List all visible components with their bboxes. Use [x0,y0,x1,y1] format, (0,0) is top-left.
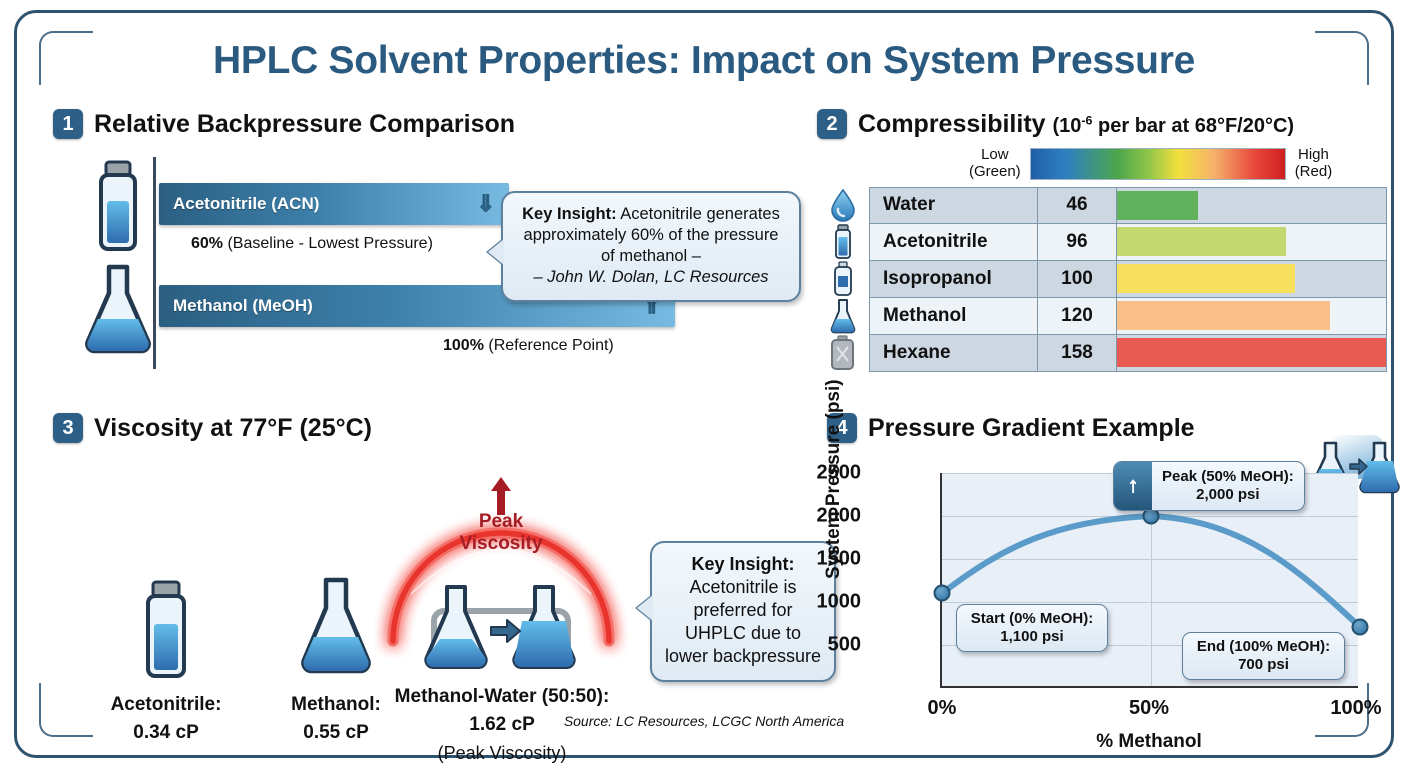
scale-low-subtext: (Green) [969,164,1021,181]
peak-viscosity-label: Peak Viscosity [371,511,631,554]
peak-tooltip-text: Peak (50% MeOH): 2,000 psi [1152,462,1304,510]
panel-viscosity: 3 Viscosity at 77°F (25°C) [53,413,833,743]
bar-acetonitrile: Acetonitrile (ACN) ⇓ [159,183,509,225]
end-tooltip: End (100% MeOH): 700 psi [1182,632,1345,680]
panel1-callout-attribution: – John W. Dolan, LC Resources [533,268,768,286]
panel3-key-insight-callout: Key Insight: Acetonitrile is preferred f… [650,541,836,682]
scale-high-text: High [1295,147,1333,164]
start-tooltip-label: Start (0% MeOH): [966,610,1098,628]
scale-high-label: High (Red) [1295,147,1333,181]
bar-label-acetonitrile: Acetonitrile (ACN) [173,194,319,214]
y-tick-label: 2500 [817,462,862,485]
panel1-title: Relative Backpressure Comparison [94,110,515,139]
panel2-unit-pre: (10 [1053,115,1082,137]
cell-value: 120 [1038,298,1117,334]
cell-bar [1117,335,1386,371]
table-row: Acetonitrile 96 [817,224,1387,261]
table-row-grid: Methanol 120 [869,298,1387,335]
value-bar [1117,338,1386,367]
panel1-callout-lead: Key Insight: [522,205,616,223]
panel1-badge: 1 [53,109,83,139]
scale-low-label: Low (Green) [969,147,1021,181]
start-tooltip-value: 1,100 psi [966,628,1098,646]
cell-value: 46 [1038,188,1117,223]
cell-name: Isopropanol [870,261,1038,297]
bar-caption-value-methanol: 100% [443,337,484,354]
table-row-grid: Acetonitrile 96 [869,224,1387,261]
water-drop-icon [817,187,869,224]
scale-high-subtext: (Red) [1295,164,1333,181]
panel3-header: 3 Viscosity at 77°F (25°C) [53,413,833,443]
value-bar [1117,227,1286,256]
callout-tail-icon [637,595,653,621]
cell-name: Acetonitrile [870,224,1038,260]
pressure-gradient-chart: System Pressure (psi) 2500 2000 1500 100… [827,449,1397,739]
table-row: Water 46 [817,187,1387,224]
chart-x-axis-label: % Methanol [940,731,1358,753]
two-flasks-icon [417,583,587,675]
table-row-grid: Water 46 [869,187,1387,224]
viscosity-name-methanol-water: Methanol-Water (50:50): [391,686,613,708]
bar-caption-text-methanol: (Reference Point) [484,337,614,354]
y-tick-label: 1500 [817,548,862,571]
cell-name: Water [870,188,1038,223]
bar-caption-text-acetonitrile: (Baseline - Lowest Pressure) [223,235,433,252]
y-tick-label: 500 [828,634,861,657]
panel2-header: 2 Compressibility (10-6 per bar at 68°F/… [817,109,1387,139]
panel2-title-main: Compressibility [858,110,1046,138]
table-row: Isopropanol 100 [817,261,1387,298]
peak-tooltip-value: 2,000 psi [1162,486,1294,504]
table-row: Methanol 120 [817,298,1387,335]
cell-bar [1117,261,1386,297]
scale-low-text: Low [969,147,1021,164]
bottle-icon [817,261,869,298]
y-tick-label: 2000 [817,505,862,528]
panel-backpressure: 1 Relative Backpressure Comparison [53,109,813,399]
panel1-key-insight-callout: Key Insight: Acetonitrile generates appr… [501,191,801,302]
flask-icon [297,575,375,683]
peak-tooltip: ↑ Peak (50% MeOH): 2,000 psi [1113,461,1305,511]
callout-tail-icon [488,239,504,265]
panel-compressibility: 2 Compressibility (10-6 per bar at 68°F/… [817,109,1387,409]
panel1-header: 1 Relative Backpressure Comparison [53,109,813,139]
page-title: HPLC Solvent Properties: Impact on Syste… [17,39,1391,83]
bar-caption-methanol: 100% (Reference Point) [443,337,614,355]
panel3-title: Viscosity at 77°F (25°C) [94,414,372,443]
data-point-end [1352,619,1369,636]
table-row-grid: Hexane 158 [869,335,1387,372]
flask-icon [81,261,155,362]
flask-icon [817,298,869,335]
data-point-start [934,585,951,602]
panel1-body: Acetonitrile (ACN) ⇓ 60% (Baseline - Low… [53,153,813,403]
panel2-unit-post: per bar at 68°F/20°C) [1092,115,1294,137]
panel3-callout-body: Acetonitrile is preferred for UHPLC due … [662,576,824,668]
panel3-badge: 3 [53,413,83,443]
vial-icon [135,579,197,683]
vial-icon [89,159,147,260]
panel-pressure-gradient: 4 Pressure Gradient Example System Press… [827,413,1397,743]
start-tooltip: Start (0% MeOH): 1,100 psi [956,604,1108,652]
cell-value: 96 [1038,224,1117,260]
panel2-title-unit: (10-6 per bar at 68°F/20°C) [1053,115,1295,137]
y-tick-label: 1000 [817,591,862,614]
infographic-frame: HPLC Solvent Properties: Impact on Syste… [14,10,1394,758]
peak-label-line1: Peak [371,511,631,533]
bar-label-methanol: Methanol (MeOH) [173,296,313,316]
panel2-title: Compressibility (10-6 per bar at 68°F/20… [858,110,1294,139]
compressibility-table: Water 46 Acetonitrile 96 [817,187,1387,372]
panel2-badge: 2 [817,109,847,139]
panel3-callout-lead: Key Insight: [691,554,794,574]
jerrycan-icon [817,335,869,372]
cell-value: 158 [1038,335,1117,371]
peak-label-line2: Viscosity [371,533,631,555]
cell-bar [1117,224,1386,260]
chart-plot-area: ↑ Peak (50% MeOH): 2,000 psi Start (0% M… [940,473,1358,688]
cell-bar [1117,188,1386,223]
viscosity-note-methanol-water: (Peak Viscosity) [391,743,613,764]
panel4-title: Pressure Gradient Example [868,414,1195,443]
value-bar [1117,301,1330,330]
source-attribution: Source: LC Resources, LCGC North America [17,713,1391,729]
end-tooltip-value: 700 psi [1192,656,1335,674]
end-tooltip-label: End (100% MeOH): [1192,638,1335,656]
table-row: Hexane 158 [817,335,1387,372]
color-scale-legend: Low (Green) High (Red) [969,147,1387,181]
peak-tooltip-label: Peak (50% MeOH): [1162,468,1294,486]
cell-bar [1117,298,1386,334]
table-row-grid: Isopropanol 100 [869,261,1387,298]
arrow-up-icon: ↑ [1114,462,1152,510]
value-bar [1117,264,1295,293]
color-gradient-bar [1030,148,1286,180]
arrow-down-icon: ⇓ [477,193,495,215]
vial-icon [817,224,869,261]
panel2-unit-exponent: -6 [1081,113,1092,127]
cell-name: Methanol [870,298,1038,334]
panel3-body: Peak Viscosity Acetonitrile: 0.34 cP [53,451,833,741]
viscosity-item-methanol-water: Methanol-Water (50:50): 1.62 cP (Peak Vi… [391,583,613,764]
bar-caption-value-acetonitrile: 60% [191,235,223,252]
value-bar [1117,191,1198,220]
bar-caption-acetonitrile: 60% (Baseline - Lowest Pressure) [191,235,433,253]
cell-value: 100 [1038,261,1117,297]
cell-name: Hexane [870,335,1038,371]
